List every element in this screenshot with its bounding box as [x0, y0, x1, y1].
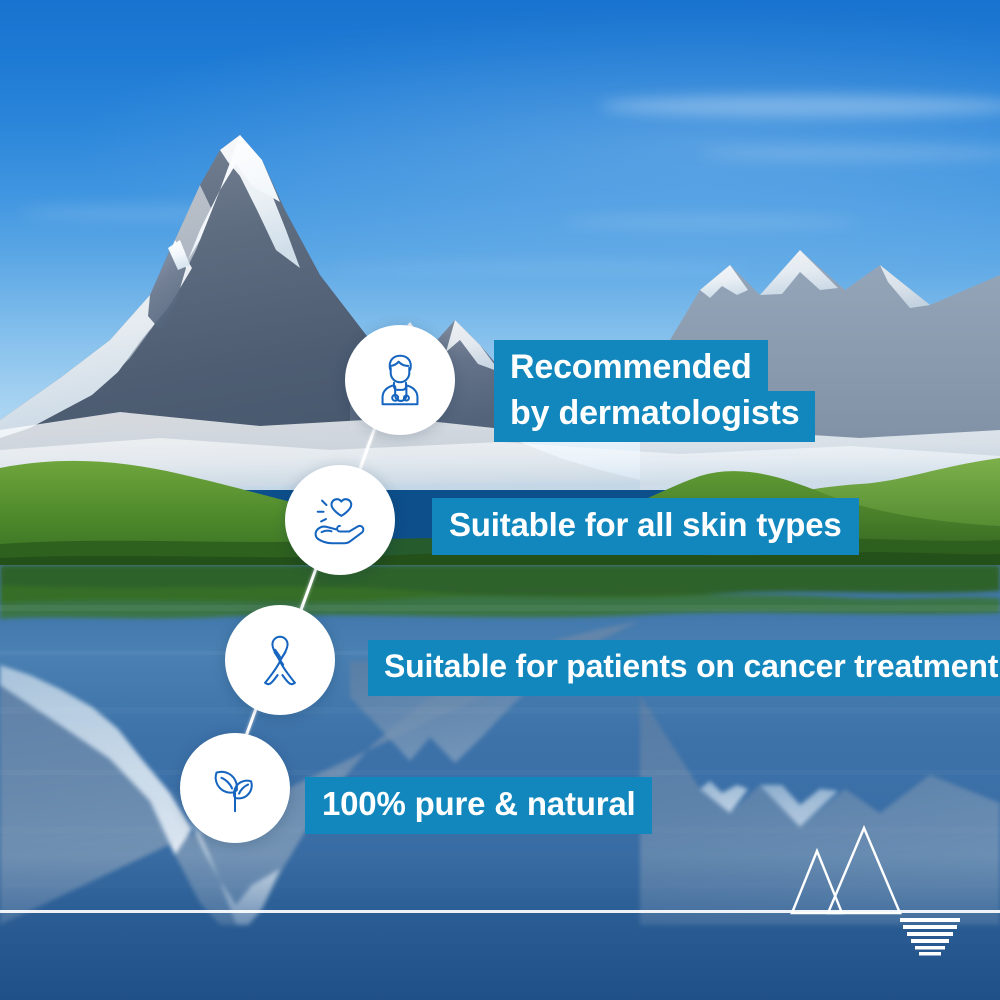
doctor-icon: [369, 349, 431, 411]
feature-text-skin-types: Suitable for all skin types: [432, 498, 859, 555]
leaf-icon: [204, 757, 266, 819]
feature-badge-cancer-treatment[interactable]: [225, 605, 335, 715]
hand-heart-icon: [309, 489, 371, 551]
feature-line: Suitable for all skin types: [432, 498, 859, 555]
feature-badge-pure-natural[interactable]: [180, 733, 290, 843]
feature-badge-dermatologists[interactable]: [345, 325, 455, 435]
feature-line: 100% pure & natural: [305, 777, 652, 834]
feature-line: Recommended: [494, 340, 768, 392]
logo-peak-small: [792, 851, 842, 913]
feature-badge-skin-types[interactable]: [285, 465, 395, 575]
feature-text-pure-natural: 100% pure & natural: [305, 777, 652, 834]
feature-line: Suitable for patients on cancer treatmen…: [368, 640, 1000, 696]
logo-reflection-stripes: [900, 918, 960, 956]
feature-line: by dermatologists: [494, 391, 815, 442]
feature-text-dermatologists: Recommended by dermatologists: [494, 340, 815, 442]
banner-stage: Recommended by dermatologists Suitable f…: [0, 0, 1000, 1000]
awareness-ribbon-icon: [249, 629, 311, 691]
logo-peak-large: [828, 828, 900, 913]
feature-text-cancer-treatment: Suitable for patients on cancer treatmen…: [368, 640, 1000, 696]
mountain-reflection-logo: [744, 806, 984, 956]
